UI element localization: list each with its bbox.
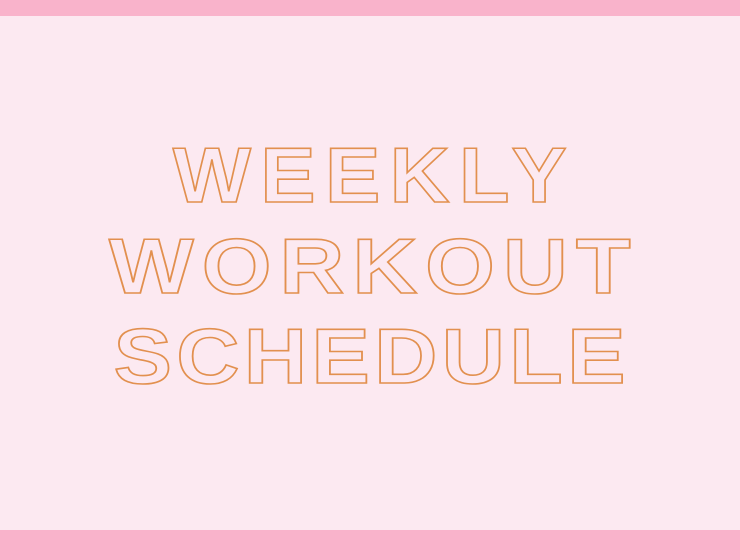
poster-title-block: WEEKLY WORKOUT SCHEDULE <box>0 16 740 530</box>
top-accent-band <box>0 0 740 16</box>
bottom-accent-band <box>0 530 740 560</box>
title-line-workout: WORKOUT <box>101 229 639 304</box>
title-line-weekly: WEEKLY <box>164 138 577 213</box>
weekly-workout-schedule-poster: WEEKLY WORKOUT SCHEDULE <box>0 0 740 560</box>
title-line-schedule: SCHEDULE <box>110 319 631 394</box>
